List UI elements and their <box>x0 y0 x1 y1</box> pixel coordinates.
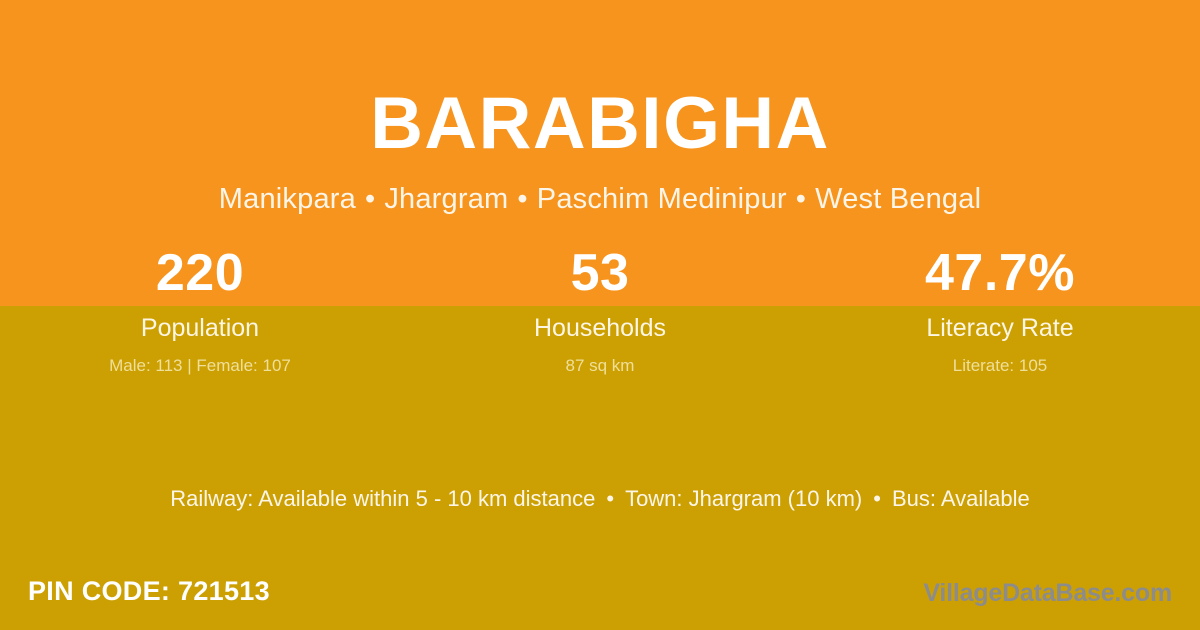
amenity-railway: Railway: Available within 5 - 10 km dist… <box>170 486 595 511</box>
stat-sublabel: Male: 113 | Female: 107 <box>0 355 400 377</box>
pin-code: PIN CODE: 721513 <box>28 574 270 608</box>
stat-households: 53 Households 87 sq km <box>400 244 800 377</box>
amenity-separator-icon: • <box>595 484 625 514</box>
stat-label: Literacy Rate <box>800 313 1200 343</box>
village-info-card: BARABIGHA Manikpara•Jhargram•Paschim Med… <box>0 0 1200 630</box>
breadcrumb: Manikpara•Jhargram•Paschim Medinipur•Wes… <box>0 181 1200 217</box>
stat-label: Households <box>400 313 800 343</box>
stat-label: Population <box>0 313 400 343</box>
amenities-row: Railway: Available within 5 - 10 km dist… <box>0 484 1200 514</box>
amenity-separator-icon: • <box>862 484 892 514</box>
amenity-town: Town: Jhargram (10 km) <box>625 486 862 511</box>
stat-literacy-rate: 47.7% Literacy Rate Literate: 105 <box>800 244 1200 377</box>
breadcrumb-item-state: West Bengal <box>815 183 981 215</box>
stat-value: 47.7% <box>800 244 1200 306</box>
stat-value: 53 <box>400 244 800 306</box>
stat-population: 220 Population Male: 113 | Female: 107 <box>0 244 400 377</box>
page-title: BARABIGHA <box>0 82 1200 166</box>
breadcrumb-separator-icon: • <box>787 181 815 217</box>
breadcrumb-item-village: Manikpara <box>219 183 356 215</box>
stat-value: 220 <box>0 244 400 306</box>
stat-sublabel: 87 sq km <box>400 355 800 377</box>
breadcrumb-separator-icon: • <box>356 181 384 217</box>
stat-sublabel: Literate: 105 <box>800 355 1200 377</box>
breadcrumb-separator-icon: • <box>508 181 536 217</box>
breadcrumb-item-district: Paschim Medinipur <box>537 183 787 215</box>
stats-row: 220 Population Male: 113 | Female: 107 5… <box>0 244 1200 377</box>
amenity-bus: Bus: Available <box>892 486 1030 511</box>
brand-watermark: VillageDataBase.com <box>923 578 1172 608</box>
breadcrumb-item-block: Jhargram <box>384 183 508 215</box>
